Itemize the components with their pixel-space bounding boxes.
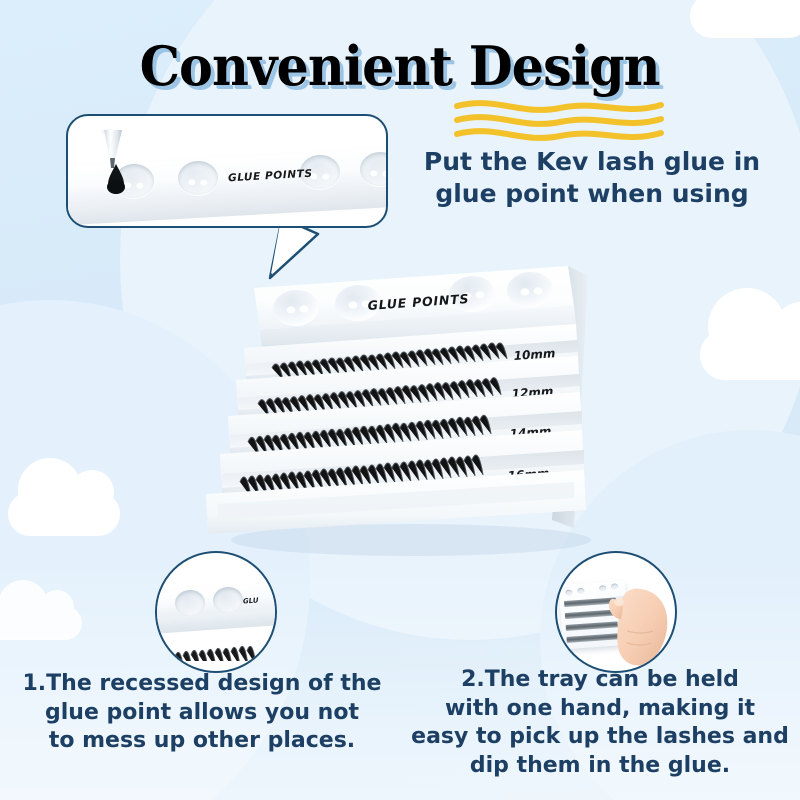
- hand-icon: [607, 575, 677, 667]
- feature-1-caption-line-2: glue point allows you not: [6, 699, 398, 728]
- page-title: Convenient Design: [140, 34, 660, 98]
- wavy-lines-decoration: [452, 96, 666, 144]
- infographic-stage: Convenient Design: [0, 0, 800, 800]
- callout-caption-line-1: Put the Kev lash glue in: [396, 146, 788, 178]
- feature-2-caption-line-3: easy to pick up the lashes and: [402, 723, 798, 752]
- cloud-icon-right: [700, 330, 800, 380]
- feature-1-caption-line-3: to mess up other places.: [6, 727, 398, 756]
- cloud-icon-bottom-left: [0, 606, 82, 640]
- thumb-glue-points-label: GLU: [243, 596, 259, 605]
- glue-bottle-icon: [92, 120, 138, 178]
- feature-2-caption-line-4: dip them in the glue.: [402, 752, 798, 781]
- callout-caption: Put the Kev lash glue in glue point when…: [396, 146, 788, 210]
- product-tray-image: 10mm 12mm 14mm 16mm: [196, 252, 606, 562]
- feature-2-caption-line-2: with one hand, making it: [402, 695, 798, 724]
- feature-1-caption-line-1: 1.The recessed design of the: [6, 670, 398, 699]
- cloud-icon-left: [8, 492, 120, 536]
- feature-2-caption-line-1: 2.The tray can be held: [402, 666, 798, 695]
- feature-2-thumbnail: [555, 551, 677, 673]
- glue-point-closeup-bubble: GLUE POINTS: [66, 114, 388, 228]
- cloud-icon-top-right: [690, 0, 800, 38]
- page-title-wrapper: Convenient Design: [0, 34, 800, 98]
- callout-caption-line-2: glue point when using: [396, 178, 788, 210]
- feature-1-thumbnail: GLU: [155, 551, 277, 673]
- feature-1-caption: 1.The recessed design of the glue point …: [6, 670, 398, 756]
- feature-2-caption: 2.The tray can be held with one hand, ma…: [402, 666, 798, 780]
